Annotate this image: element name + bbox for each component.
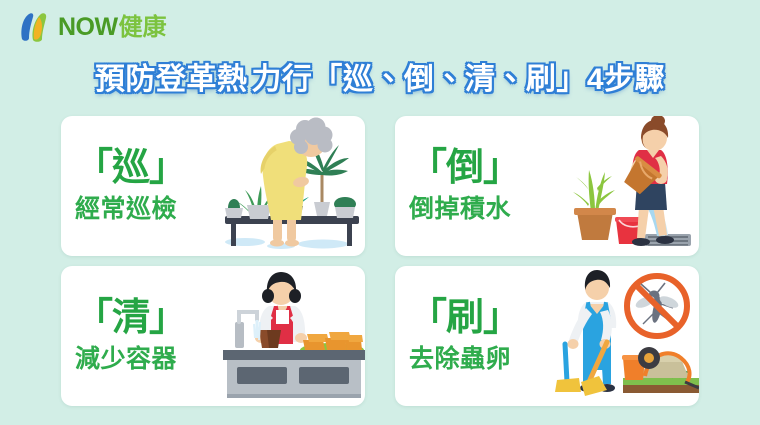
step-key-label: 「巡」 <box>75 149 186 189</box>
brand-logo: NOW 健康 <box>18 10 167 44</box>
woman-washing-containers-at-sink-icon <box>219 266 365 406</box>
now-health-logo-mark-icon <box>18 11 52 43</box>
elderly-woman-inspecting-potted-plants-icon <box>219 116 365 256</box>
woman-pouring-bucket-into-drain-icon <box>553 116 699 256</box>
step-card-dao: 「倒」 倒掉積水 <box>395 116 699 256</box>
step-card-text: 「刷」 去除蟲卵 <box>395 266 553 406</box>
step-subtitle-label: 倒掉積水 <box>409 196 511 222</box>
no-mosquito-sign <box>627 276 687 336</box>
step-card-text: 「巡」 經常巡檢 <box>61 116 219 256</box>
brand-name-en: NOW <box>58 15 118 40</box>
brand-wordmark: NOW 健康 <box>58 15 167 40</box>
worker-sweeping-with-no-mosquito-sign-icon <box>553 266 699 406</box>
page-title-part-1: 預防登革熱 <box>95 63 248 96</box>
step-card-qing: 「清」 減少容器 <box>61 266 365 406</box>
step-key-label: 「倒」 <box>409 149 520 189</box>
step-subtitle-label: 去除蟲卵 <box>409 346 511 372</box>
brand-name-zh: 健康 <box>119 16 167 40</box>
step-card-shua: 「刷」 去除蟲卵 <box>395 266 699 406</box>
step-card-xun: 「巡」 經常巡檢 <box>61 116 365 256</box>
step-card-text: 「倒」 倒掉積水 <box>395 116 553 256</box>
step-key-label: 「清」 <box>75 299 186 339</box>
page-title: 預防登革熱力行「巡、倒、清、刷」4步驟 <box>0 54 760 98</box>
step-card-text: 「清」 減少容器 <box>61 266 219 406</box>
step-key-label: 「刷」 <box>409 299 520 339</box>
steps-grid: 「巡」 經常巡檢 <box>61 116 699 406</box>
page-title-part-2: 力行「巡、倒、清、刷」4步驟 <box>251 63 665 96</box>
step-subtitle-label: 經常巡檢 <box>75 196 177 222</box>
infographic-canvas: NOW 健康 預防登革熱力行「巡、倒、清、刷」4步驟 「巡」 經常巡檢 <box>0 0 760 425</box>
step-subtitle-label: 減少容器 <box>75 346 177 372</box>
